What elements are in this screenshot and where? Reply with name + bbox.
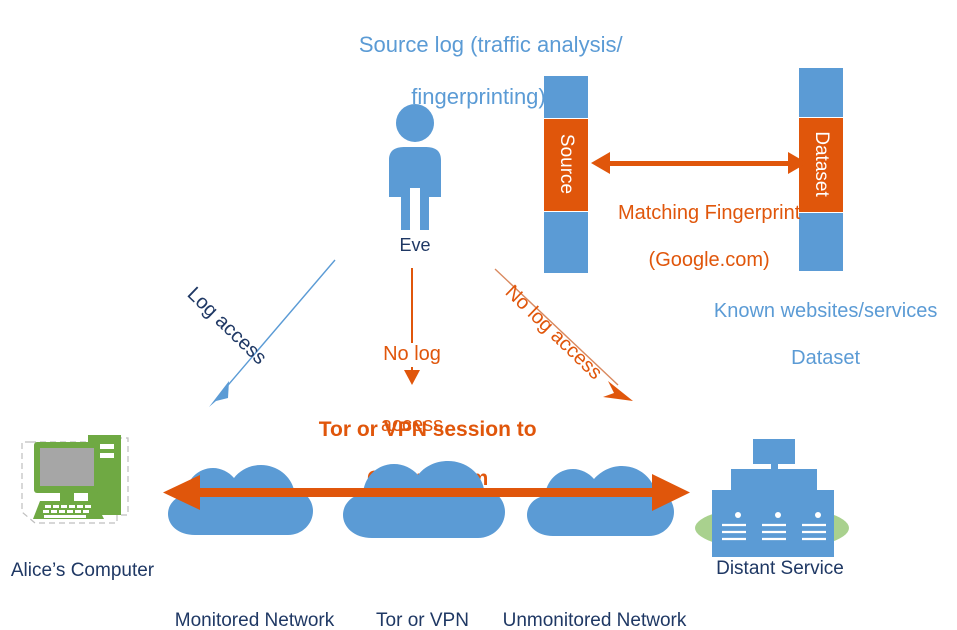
- caption-monitored-network: Monitored Network (Logging): [162, 565, 347, 630]
- eve-label: Eve: [355, 235, 475, 256]
- dataset-caption-line1: Known websites/services: [714, 300, 937, 322]
- matching-fingerprint-label-line1: Matching Fingerprint: [618, 202, 800, 224]
- caption-unmonitored-network: Unmonitored Network (No Logging): [492, 565, 697, 630]
- caption-tor-vpn-line1: Tor or VPN: [360, 610, 485, 630]
- caption-distant-service: Distant Service: [690, 558, 870, 580]
- log-access-arrow: [195, 255, 340, 415]
- diagram-canvas: Source log (traffic analysis/ fingerprin…: [0, 0, 957, 630]
- desktop-computer-icon: [22, 435, 128, 523]
- matching-fingerprint-arrowhead-left: [591, 152, 610, 174]
- caption-monitored-network-line1: Monitored Network: [162, 610, 347, 630]
- caption-tor-vpn: Tor or VPN (No logging): [360, 565, 485, 630]
- source-bar-label: Source: [555, 114, 577, 214]
- caption-alice-computer: Alice’s Computer: [0, 560, 165, 582]
- dataset-caption: Known websites/services Dataset: [672, 276, 957, 394]
- matching-fingerprint-arrow-line: [606, 161, 792, 166]
- cloud-unmonitored-network-icon: [527, 466, 674, 536]
- server-stack-icon: [712, 439, 834, 557]
- source-bar-top-segment: [544, 76, 588, 118]
- matching-fingerprint-label-line2: (Google.com): [649, 249, 770, 271]
- eve-person-icon: [372, 104, 458, 235]
- matching-fingerprint-arrowhead-right: [788, 152, 807, 174]
- cloud-tor-vpn-icon: [343, 461, 505, 538]
- no-log-access-center-label-line1: No log: [352, 343, 472, 367]
- caption-unmonitored-network-line1: Unmonitored Network: [492, 610, 697, 630]
- dataset-bar-top-segment: [799, 68, 843, 117]
- dataset-caption-line2: Dataset: [791, 347, 860, 369]
- network-path-scene: [0, 420, 957, 570]
- diagram-title-line1: Source log (traffic analysis/: [359, 32, 623, 57]
